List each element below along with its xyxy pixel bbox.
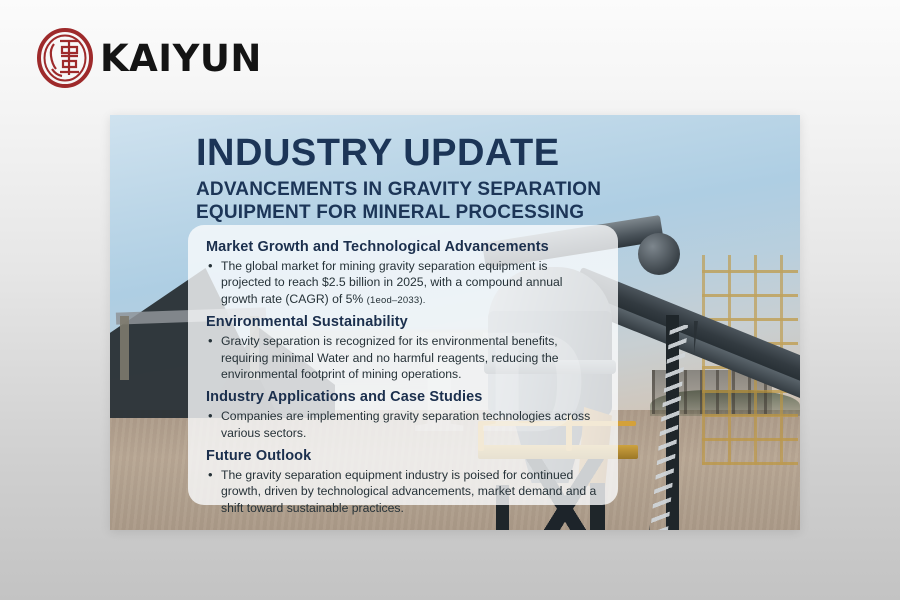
section-heading: Market Growth and Technological Advancem… bbox=[206, 239, 600, 255]
section-heading: Environmental Sustainability bbox=[206, 314, 600, 330]
kaiyun-seal-icon bbox=[36, 28, 94, 88]
section-body: The gravity separation equipment industr… bbox=[206, 467, 600, 516]
page-subtitle: ADVANCEMENTS IN GRAVITY SEPARATION EQUIP… bbox=[196, 179, 656, 224]
section-body: The global market for mining gravity sep… bbox=[206, 258, 600, 307]
section-market-growth: Market Growth and Technological Advancem… bbox=[206, 239, 600, 307]
section-body: Companies are implementing gravity separ… bbox=[206, 408, 600, 441]
section-future-outlook: Future Outlook The gravity separation eq… bbox=[206, 448, 600, 516]
headline-block: INDUSTRY UPDATE ADVANCEMENTS IN GRAVITY … bbox=[196, 133, 656, 224]
page-title: INDUSTRY UPDATE bbox=[196, 133, 656, 173]
section-industry-applications: Industry Applications and Case Studies C… bbox=[206, 389, 600, 441]
brand-header: KAIYUN bbox=[36, 28, 262, 88]
section-heading: Industry Applications and Case Studies bbox=[206, 389, 600, 405]
section-body-note: (1eod–2033). bbox=[367, 295, 426, 306]
brand-name: KAIYUN bbox=[100, 40, 262, 77]
gantry-leg-left bbox=[120, 316, 129, 380]
section-body: Gravity separation is recognized for its… bbox=[206, 333, 600, 382]
section-environmental-sustainability: Environmental Sustainability Gravity sep… bbox=[206, 314, 600, 382]
conveyor-drum bbox=[638, 233, 680, 275]
industry-update-banner: ID INDUSTRY UPDATE ADVANCEMENTS IN GRAVI… bbox=[110, 115, 800, 530]
section-heading: Future Outlook bbox=[206, 448, 600, 464]
content-card: Market Growth and Technological Advancem… bbox=[188, 225, 618, 505]
